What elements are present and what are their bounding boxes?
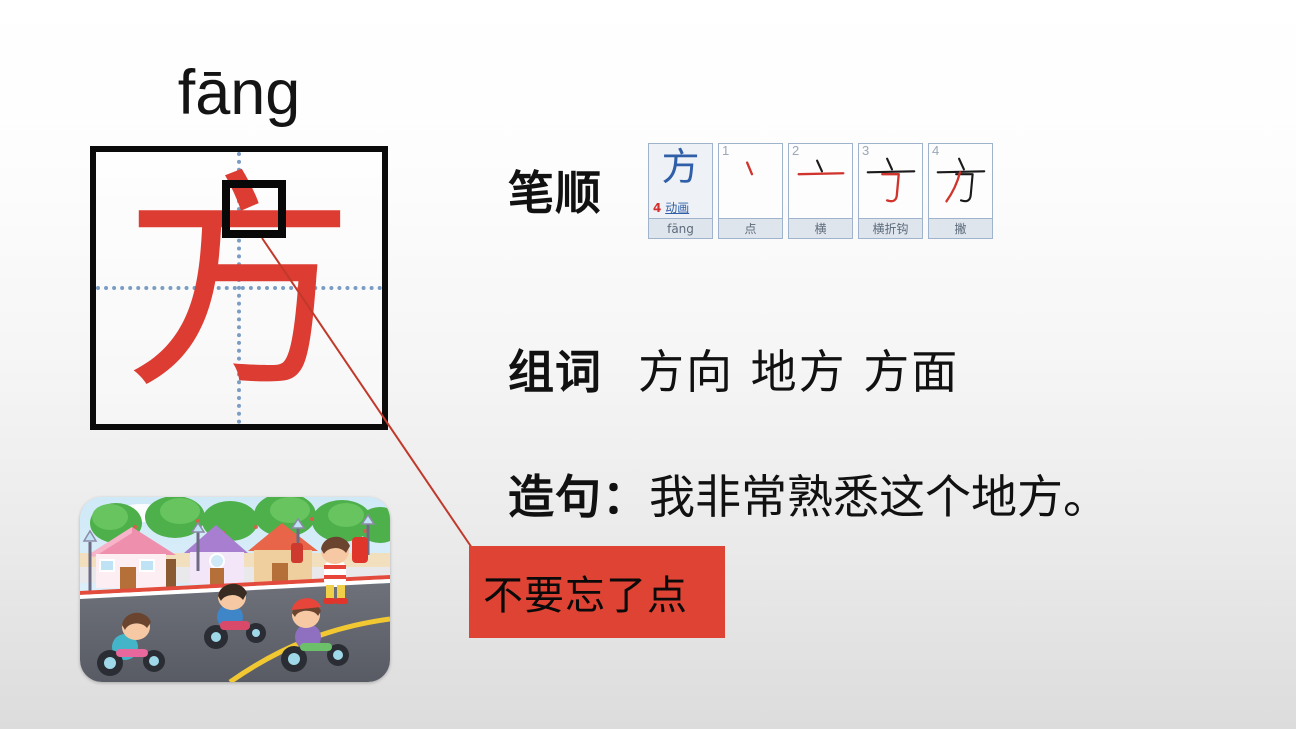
dot-stroke-highlight-box: [222, 180, 286, 238]
stroke-count: 4: [653, 201, 661, 215]
summary-character: 方: [649, 148, 712, 186]
stroke-name-2: 横: [789, 218, 852, 238]
stroke-cell-2-art: 2: [789, 144, 852, 218]
stroke-cell-summary[interactable]: 方 4 动画 fāng: [648, 143, 713, 239]
scene-illustration: [80, 497, 390, 682]
summary-pinyin: fāng: [649, 218, 712, 238]
reminder-callout-text: 不要忘了点: [469, 563, 688, 621]
stroke-cell-1-art: 1: [719, 144, 782, 218]
sentence-text: 我非常熟悉这个地方。: [649, 461, 1109, 527]
stroke-cell-3-art: 3: [859, 144, 922, 218]
stroke-cell-2[interactable]: 2 横: [788, 143, 853, 239]
stroke-name-4: 撇: [929, 218, 992, 238]
stroke-name-3: 横折钩: [859, 218, 922, 238]
stroke-cell-3[interactable]: 3 横折钩: [858, 143, 923, 239]
words-list: 方向 地方 方面: [638, 336, 959, 402]
sentence-label: 造句：: [508, 461, 649, 527]
reminder-callout: 不要忘了点: [469, 546, 725, 638]
stroke-order-label: 笔顺: [508, 157, 602, 223]
words-label: 组词: [508, 336, 602, 402]
stroke-name-1: 点: [719, 218, 782, 238]
animate-link[interactable]: 动画: [665, 201, 689, 215]
stroke-cell-4[interactable]: 4 撇: [928, 143, 993, 239]
stroke-cell-1[interactable]: 1 点: [718, 143, 783, 239]
stroke-cell-summary-art: 方 4 动画: [649, 144, 712, 218]
sentence-row: 造句： 我非常熟悉这个地方。: [508, 461, 1109, 527]
summary-meta: 4 动画: [653, 199, 689, 216]
words-row: 组词 方向 地方 方面: [508, 336, 959, 402]
stroke-order-table: 方 4 动画 fāng 1 点 2 横 3: [648, 143, 993, 239]
stroke-cell-4-art: 4: [929, 144, 992, 218]
pinyin-label: fāng: [90, 62, 388, 125]
